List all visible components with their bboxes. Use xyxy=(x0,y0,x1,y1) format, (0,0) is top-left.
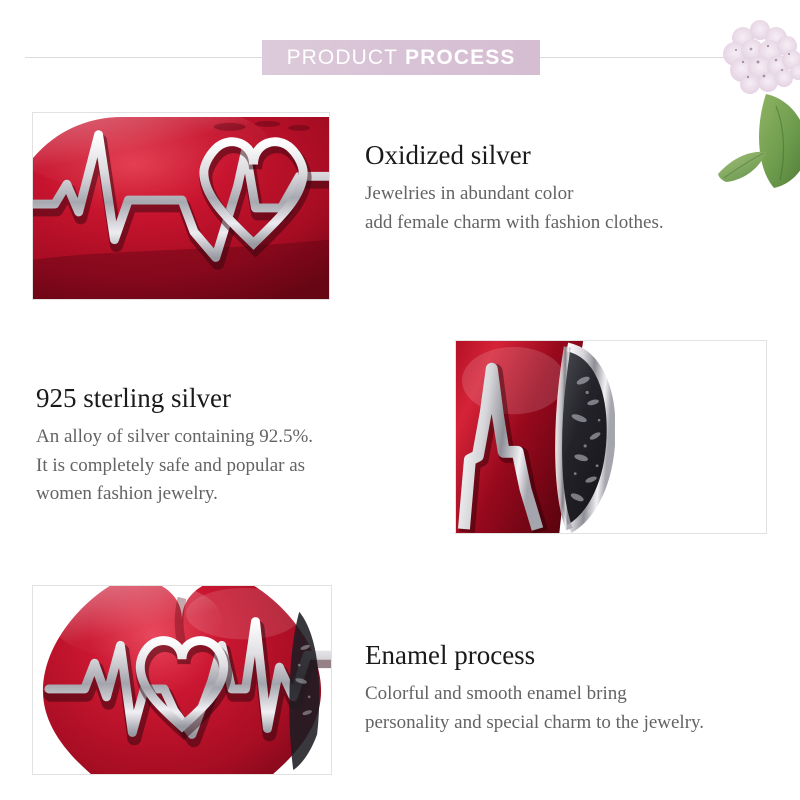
section-enamel-process-text: Enamel process Colorful and smooth ename… xyxy=(365,640,785,737)
product-process-page: PRODUCT PROCESS xyxy=(0,0,800,800)
section-925-sterling-silver-text: 925 sterling silver An alloy of silver c… xyxy=(36,383,436,509)
section-title: 925 sterling silver xyxy=(36,383,436,414)
section-body: An alloy of silver containing 92.5%. It … xyxy=(36,423,436,509)
section-body: Jewelries in abundant color add female c… xyxy=(365,180,765,237)
banner-label: PRODUCT PROCESS xyxy=(287,47,516,68)
heart-charm-closeup-ekg-image[interactable] xyxy=(32,112,330,300)
charm-side-view-oxidized-detail-image[interactable] xyxy=(455,340,767,534)
header-divider-left xyxy=(25,57,265,58)
body-line: It is completely safe and popular as xyxy=(36,452,436,481)
body-line: women fashion jewelry. xyxy=(36,480,436,509)
body-line: Colorful and smooth enamel bring xyxy=(365,680,785,709)
body-line: An alloy of silver containing 92.5%. xyxy=(36,423,436,452)
heart-charm-full-enamel-image[interactable] xyxy=(32,585,332,775)
banner-label-bold: PROCESS xyxy=(405,46,515,69)
body-line: personality and special charm to the jew… xyxy=(365,709,785,738)
section-title-banner: PRODUCT PROCESS xyxy=(262,40,540,75)
section-oxidized-silver-text: Oxidized silver Jewelries in abundant co… xyxy=(365,140,765,237)
body-line: Jewelries in abundant color xyxy=(365,180,765,209)
page-header: PRODUCT PROCESS xyxy=(0,0,800,110)
section-title: Enamel process xyxy=(365,640,785,671)
header-divider-right xyxy=(538,57,778,58)
section-title: Oxidized silver xyxy=(365,140,765,171)
section-body: Colorful and smooth enamel bring persona… xyxy=(365,680,785,737)
banner-label-light: PRODUCT xyxy=(287,46,399,69)
body-line: add female charm with fashion clothes. xyxy=(365,209,765,238)
